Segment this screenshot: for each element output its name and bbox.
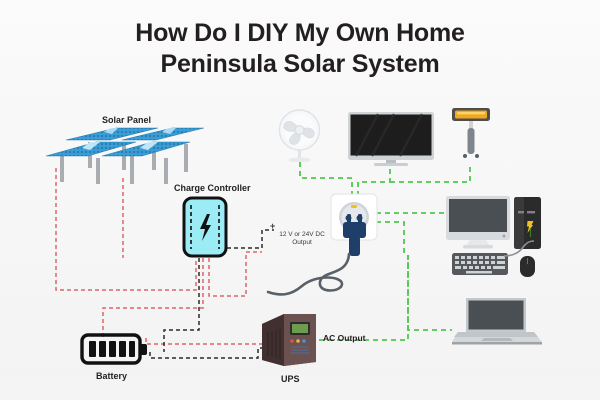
mouse[interactable] — [520, 256, 535, 277]
battery-label: Battery — [96, 371, 127, 381]
charge-controller-label: Charge Controller — [174, 183, 251, 193]
battery-icon — [80, 332, 150, 366]
wire-socket-ac-up — [300, 160, 352, 196]
wire-battery-ups-negative — [150, 348, 272, 358]
ac-output-label: AC Output — [323, 333, 366, 343]
tv-icon — [348, 112, 434, 168]
flat-screen-tv[interactable] — [348, 112, 434, 168]
fan-icon — [272, 108, 328, 162]
wire-socket-ac-laptop — [408, 255, 452, 330]
wire-controller-battery-positive — [103, 258, 203, 338]
diagram-canvas: How Do I DIY My Own Home Peninsula Solar… — [0, 0, 600, 400]
battery[interactable] — [80, 332, 150, 366]
pedestal-fan[interactable] — [272, 108, 328, 162]
charge-controller-icon — [182, 196, 228, 258]
laptop[interactable] — [452, 296, 542, 348]
ups-label: UPS — [281, 374, 300, 384]
solar-panel-icon — [44, 122, 204, 192]
solar-panel-group[interactable] — [44, 122, 204, 192]
dc-plus-sign: + — [270, 222, 275, 230]
plug-cable — [262, 250, 382, 320]
wall-heater-lamp[interactable] — [448, 106, 494, 168]
dc-output-label: 12 V or 24V DC Output — [274, 231, 330, 247]
dc-output-line-2: Output — [292, 239, 312, 246]
mouse-icon — [520, 256, 535, 277]
charge-controller[interactable] — [182, 196, 228, 258]
solar-panel-label: Solar Panel — [102, 115, 151, 125]
wire-socket-ac-tv — [358, 166, 390, 196]
wire-controller-battery-negative — [164, 258, 199, 352]
wire-controller-ups-positive — [209, 252, 262, 296]
heater-icon — [448, 106, 494, 168]
dc-output-line-1: 12 V or 24V DC — [279, 231, 325, 238]
laptop-icon — [452, 296, 542, 348]
wire-bus-ups-positive — [146, 338, 272, 344]
